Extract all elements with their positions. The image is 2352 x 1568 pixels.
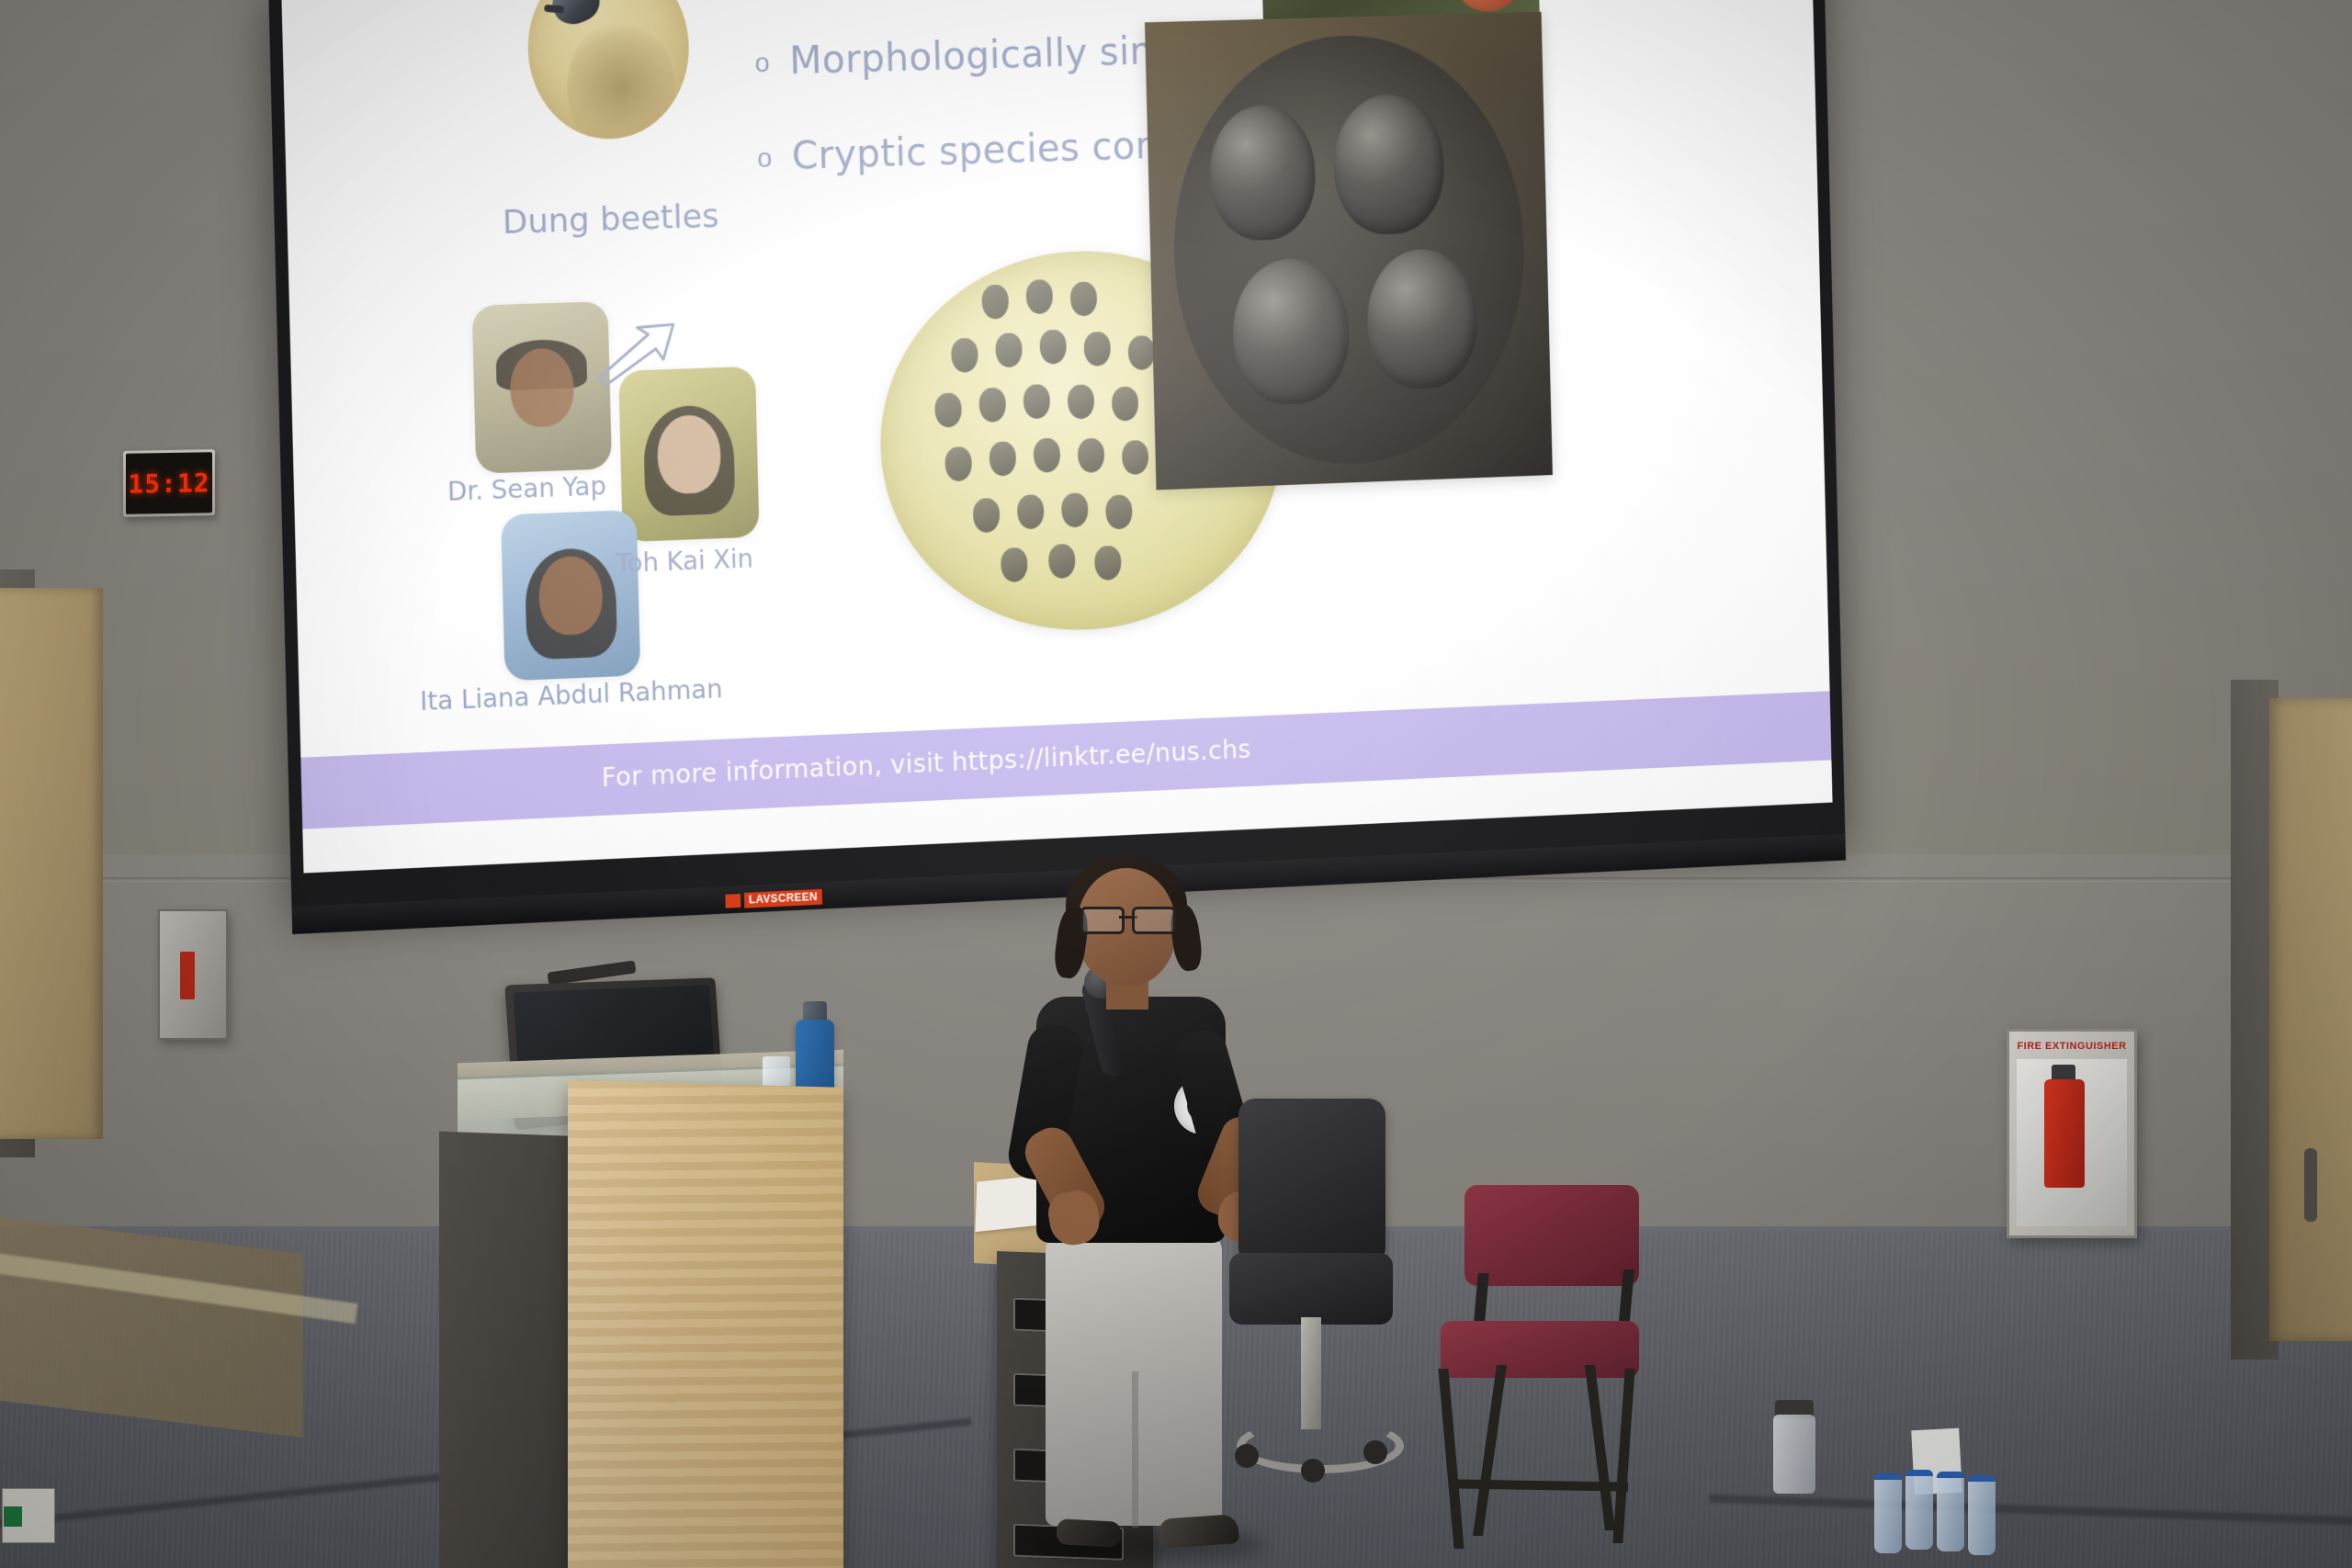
eyeglasses-icon [1080,907,1176,929]
slide-person-name: Ita Liana Abdul Rahman [420,673,723,716]
chair-backrest [1464,1185,1639,1286]
slide-dung-beetle-photo [526,0,691,141]
screen-surface: Dung beetles o Unresolved taxonomy o Mor… [281,0,1832,874]
water-bottle [1905,1470,1933,1550]
bullet-marker-icon: o [756,134,772,173]
beetle-icon [547,0,605,29]
chair-leg [1473,1365,1507,1536]
door-handle-right[interactable] [2304,1148,2317,1222]
fire-extinguisher-cabinet[interactable]: FIRE EXTINGUISHER [2007,1029,2137,1238]
water-bottle-group[interactable] [1874,1470,2012,1552]
fire-extinguisher-icon [2044,1079,2085,1188]
chair-leg [1612,1369,1634,1543]
dish-ring [1170,31,1529,470]
presenter-shoe [1056,1518,1121,1548]
wood-grain [568,1080,843,1568]
presenter-trousers [1046,1234,1222,1526]
red-stacking-chair[interactable] [1433,1185,1645,1552]
chair-caster [1363,1440,1387,1464]
slide-person-photo [472,301,612,474]
presenter-shoe [1159,1514,1239,1549]
clock-time: 15:12 [128,468,209,500]
chair-caster [1235,1444,1259,1468]
chair-leg [1438,1369,1464,1549]
slide-person-name: Dr. Sean Yap [447,471,607,507]
wall-control-panel[interactable] [158,909,228,1040]
office-chair[interactable] [1229,1099,1395,1484]
slide-beetle-macro-photo [1145,12,1553,491]
chair-seat [1229,1253,1393,1325]
chair-seat [1441,1321,1639,1378]
presentation-slide: Dung beetles o Unresolved taxonomy o Mor… [281,0,1832,874]
slide-person-photo [618,367,759,543]
water-bottle [1874,1473,1902,1553]
brand-name: LAVSCREEN [744,888,822,908]
slide-person-photo [501,510,640,681]
chair-leg [1585,1365,1615,1530]
slide-subject-label: Dung beetles [502,197,719,242]
projection-screen: Dung beetles o Unresolved taxonomy o Mor… [268,0,1845,908]
exit-indicator-icon [4,1506,22,1527]
chair-cross-bar [1452,1479,1628,1491]
door-right[interactable] [2269,698,2352,1341]
chair-backrest [1238,1099,1385,1264]
lectern-body [568,1080,843,1568]
water-bottle [1937,1472,1964,1551]
fire-extinguisher-label: FIRE EXTINGUISHER [2015,1041,2129,1052]
slide-person-name: Toh Kai Xin [616,544,753,580]
floor-wood-strip [0,1217,303,1438]
chair-gas-lift [1301,1317,1321,1429]
door-left[interactable] [0,588,103,1139]
wall-clock: 15:12 [123,449,215,517]
water-bottle [1968,1475,1996,1555]
bullet-marker-icon: o [754,39,770,77]
brand-mark-icon [725,894,741,908]
chair-caster [1301,1459,1325,1483]
panel-red-switch-icon [180,952,195,999]
clock-face: 15:12 [126,452,212,514]
lecture-hall-photo: 15:12 FIRE EXTINGUISHER [0,0,2352,1568]
tumbler-bottle[interactable] [1773,1415,1815,1494]
slide-footer-text: For more information, visit https://link… [601,734,1251,793]
arrow-icon [594,319,678,390]
